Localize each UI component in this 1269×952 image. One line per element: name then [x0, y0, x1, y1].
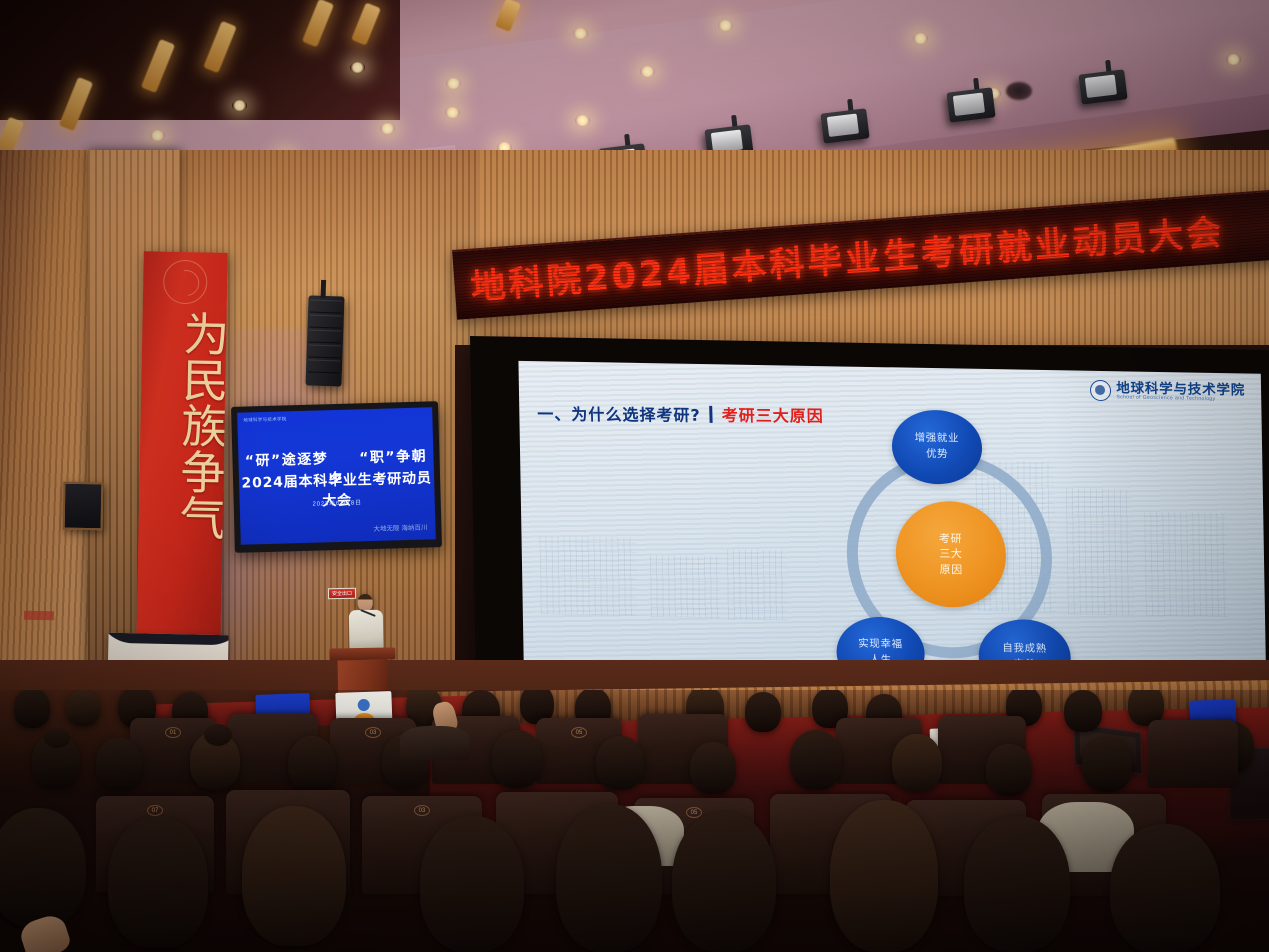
audience-head	[596, 736, 644, 790]
audience-area: 01 03 05 07	[0, 690, 1269, 952]
slide-title-section: 一、为什么选择考研?	[537, 401, 701, 426]
ceiling-downlight	[350, 62, 365, 73]
audience-hair-bun	[44, 728, 70, 748]
presenter-torso	[349, 610, 384, 651]
ceiling-downlight	[718, 20, 733, 31]
slide-title-highlight: 考研三大原因	[721, 402, 824, 427]
side-monitor: 地球科学与技术学院 “研”途逐梦 “职”争朝夕 2024届本科毕业生考研动员大会…	[231, 401, 442, 553]
slide-background-building	[1144, 512, 1228, 617]
ceiling-downlight	[1226, 54, 1241, 65]
seat-number: 03	[414, 805, 430, 816]
seat-number: 07	[147, 805, 163, 816]
audience-head	[108, 816, 208, 948]
diagram-node-bottom-right-line1: 自我成熟	[1002, 641, 1047, 658]
diagram-node-top-line2: 优势	[926, 447, 948, 463]
wall-speaker-box	[63, 482, 104, 531]
slide-institution-logo: 地球科学与技术学院 School of Geoscience and Techn…	[1090, 380, 1245, 404]
conference-hall-photo: 为民族争气 西南石油大学 地科院2024届本科毕业生考研就业动员大会 地球科学与…	[0, 0, 1269, 952]
audience-head	[14, 690, 50, 728]
audience-head	[288, 736, 336, 792]
audience-head	[986, 744, 1032, 796]
ceiling-vent	[1006, 82, 1032, 100]
audience-head	[690, 742, 736, 794]
audience-head	[492, 730, 542, 788]
side-monitor-signature: 大地无限 海纳百川	[373, 521, 427, 533]
stage-spotlight[interactable]	[946, 87, 995, 122]
audience-head	[556, 804, 662, 952]
audience-head	[96, 738, 142, 790]
slide-title-divider-icon	[709, 405, 712, 422]
seat	[1148, 720, 1238, 788]
ceiling-downlight	[232, 100, 247, 111]
seat-number: 03	[365, 727, 381, 738]
ceiling-downlight	[446, 78, 461, 89]
ceiling-downlight	[640, 66, 655, 77]
university-emblem-icon	[163, 260, 208, 305]
diagram-center-line3: 原因	[939, 562, 962, 578]
ceiling-downlight	[573, 28, 588, 39]
ceiling-downlight	[380, 123, 395, 134]
stage-spotlight[interactable]	[1078, 69, 1127, 104]
presenter-figure	[348, 594, 383, 653]
institution-seal-icon	[1090, 380, 1111, 401]
slide-background-building	[650, 555, 721, 618]
diagram-node-top-line1: 增强就业	[915, 431, 960, 448]
seat-number: 05	[571, 727, 587, 738]
diagram-center-line2: 三大	[939, 546, 962, 562]
seat-number: 01	[165, 727, 181, 738]
audience-head	[892, 734, 942, 792]
audience-head	[672, 812, 776, 952]
vertical-banner-text: 为民族争气	[136, 309, 226, 641]
ceiling-dark-corner	[0, 0, 400, 120]
slide-background-building	[727, 549, 788, 620]
diagram-center-line1: 考研	[939, 531, 962, 547]
audience-hair-bun	[204, 724, 232, 746]
slide-background-building	[1066, 488, 1134, 615]
ceiling-downlight	[150, 130, 165, 141]
slide-background-building	[540, 536, 637, 616]
line-array-speaker	[305, 295, 344, 386]
audience-head	[1082, 736, 1132, 792]
ceiling-downlight	[445, 107, 460, 118]
side-monitor-logo-text: 地球科学与技术学院	[243, 416, 286, 423]
side-monitor-screen: 地球科学与技术学院 “研”途逐梦 “职”争朝夕 2024届本科毕业生考研动员大会…	[237, 407, 436, 544]
ceiling-downlight	[575, 115, 590, 126]
audience-head	[964, 816, 1070, 952]
fire-equipment-plate	[24, 611, 54, 621]
audience-head	[420, 816, 524, 952]
audience-head	[745, 692, 781, 732]
vertical-red-banner: 为民族争气	[136, 251, 228, 653]
diagram-node-bottom-left-line1: 实现幸福	[858, 637, 903, 654]
audience-head	[830, 800, 938, 952]
seat-number: 05	[686, 807, 702, 818]
slide-title: 一、为什么选择考研? 考研三大原因	[537, 401, 824, 427]
audience-head	[242, 806, 346, 946]
audience-head	[66, 690, 100, 726]
audience-head	[0, 808, 86, 928]
ceiling-downlight	[913, 33, 928, 44]
audience-head	[1110, 824, 1220, 952]
audience-shoulder	[400, 726, 470, 760]
audience-head	[1064, 690, 1102, 732]
stage-spotlight[interactable]	[820, 108, 869, 143]
audience-head	[790, 730, 842, 790]
